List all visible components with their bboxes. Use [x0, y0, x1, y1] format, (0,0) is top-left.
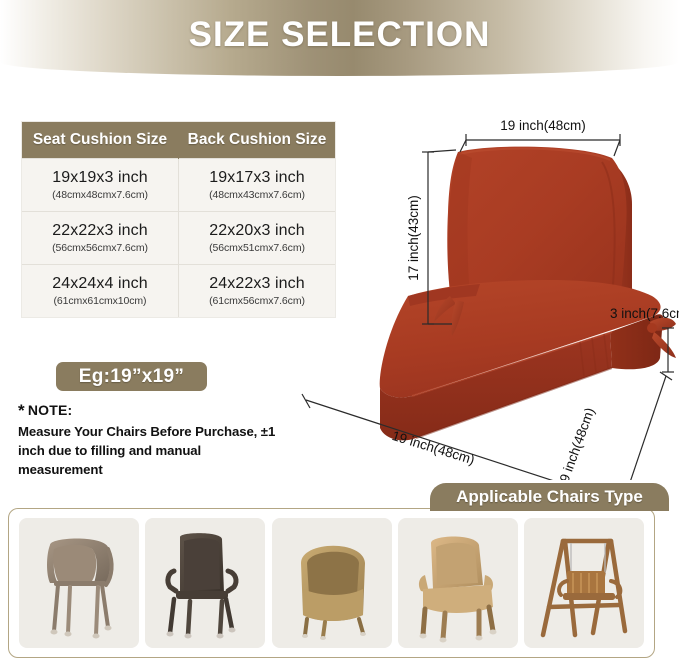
- seat-cushion-illustration: [380, 280, 664, 440]
- label-seat-front-width: 19 inch(48cm): [390, 428, 476, 467]
- seat-size-cm: (56cmx56cmx7.6cm): [26, 242, 174, 254]
- applicable-chairs-panel: [8, 508, 655, 658]
- seat-size-cm: (48cmx48cmx7.6cm): [26, 189, 174, 201]
- note-heading-label: NOTE:: [28, 402, 73, 418]
- chair-tile-tan-wicker-barrel-chair[interactable]: [272, 518, 392, 648]
- page-title: SIZE SELECTION: [0, 15, 679, 55]
- chair-tile-dark-wicker-dining-chair[interactable]: [145, 518, 265, 648]
- label-back-cushion-height: 17 inch(43cm): [406, 195, 421, 281]
- seat-size-inch: 22x22x3 inch: [26, 221, 174, 240]
- cushion-dimension-diagram: 19 inch(48cm) 17 inch(43cm) 3 inch(7.6cm…: [280, 100, 679, 480]
- chair-tile-natural-wicker-armchair[interactable]: [398, 518, 518, 648]
- chair-tile-rattan-stacking-armchair[interactable]: [19, 518, 139, 648]
- applicable-chairs-tab: Applicable Chairs Type: [430, 483, 669, 511]
- label-seat-depth: 19 inch(48cm): [554, 406, 597, 480]
- note-block: *NOTE: Measure Your Chairs Before Purcha…: [18, 402, 286, 479]
- seat-size-cell: 24x24x4 inch (61cmx61cmx10cm): [22, 265, 179, 318]
- chair-tile-wooden-porch-swing[interactable]: [524, 518, 644, 648]
- note-body: Measure Your Chairs Before Purchase, ±1 …: [18, 422, 286, 479]
- seat-size-inch: 19x19x3 inch: [26, 168, 174, 187]
- example-size-badge: Eg:19”x19”: [56, 362, 207, 391]
- seat-size-cm: (61cmx61cmx10cm): [26, 295, 174, 307]
- column-header-seat-cushion-size: Seat Cushion Size: [22, 122, 179, 158]
- seat-size-cell: 22x22x3 inch (56cmx56cmx7.6cm): [22, 212, 179, 265]
- seat-size-inch: 24x24x4 inch: [26, 274, 174, 293]
- label-back-cushion-width: 19 inch(48cm): [500, 118, 586, 133]
- seat-size-cell: 19x19x3 inch (48cmx48cmx7.6cm): [22, 158, 179, 211]
- note-heading: *NOTE:: [18, 402, 286, 419]
- asterisk-icon: *: [18, 401, 25, 420]
- label-seat-thickness: 3 inch(7.6cm): [610, 306, 679, 321]
- header-banner: SIZE SELECTION: [0, 0, 679, 76]
